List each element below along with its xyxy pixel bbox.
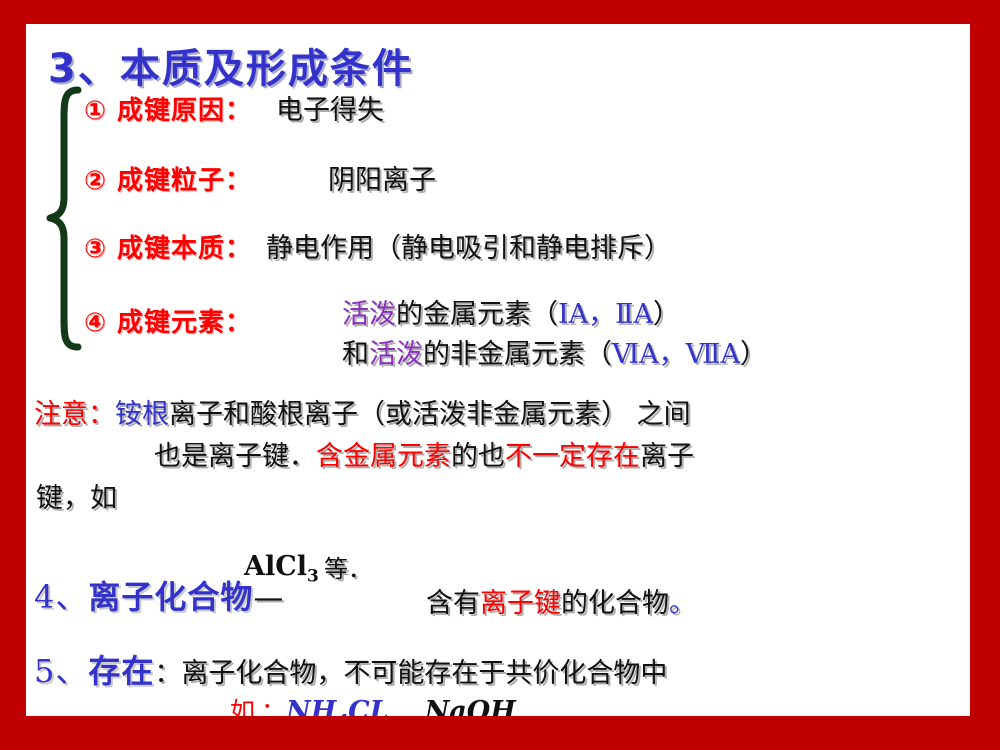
- item-1-label: 成键原因：: [117, 90, 252, 127]
- item-3-marker: ③: [84, 234, 107, 264]
- item-4-label: 成键元素：: [117, 302, 252, 339]
- formula-alcl3-subscript: 3: [307, 566, 319, 586]
- item-2-marker: ②: [84, 166, 107, 196]
- item-1-marker: ①: [84, 96, 107, 126]
- section-5-number: 5、: [34, 652, 88, 690]
- note-line-3: 键，如: [36, 476, 117, 515]
- section-4-def-keyword: 离子键: [480, 588, 561, 619]
- example-nh4cl-head: NH: [286, 696, 336, 716]
- item-4-marker: ④: [84, 308, 107, 338]
- section-4-number: 4、: [34, 578, 88, 616]
- section-5-title: 存在: [88, 652, 154, 690]
- item-4-line2-prefix: 和: [342, 339, 369, 370]
- note-line-2-prefix: 也是离子键．: [154, 441, 316, 472]
- list-item-2: ② 成键粒子： 阴阳离子: [84, 158, 436, 197]
- example-formula-nh4cl: NH4CL: [286, 696, 389, 716]
- item-2-value: 阴阳离子: [328, 158, 436, 197]
- note-metal-keyword: 含金属元素: [316, 441, 451, 472]
- item-4-line2-keyword: 活泼: [369, 339, 423, 370]
- section-5-body: 离子化合物，不可能存在于共价化合物中: [181, 658, 667, 689]
- note-attention-label: 注意: [34, 399, 88, 430]
- section-5-examples: 如：NH4CLNaOH: [230, 692, 516, 716]
- item-4-value-line-1: 活泼的金属元素（ⅠA，ⅡA）: [342, 292, 680, 331]
- item-3-label: 成键本质：: [117, 228, 252, 265]
- section-5-heading: 5、存在：离子化合物，不可能存在于共价化合物中: [34, 646, 667, 692]
- section-4-def-suffix: 的化合物: [561, 588, 669, 619]
- section-4-title: 离子化合物: [88, 578, 253, 616]
- item-4-line1-text: 的金属元素（: [396, 299, 558, 330]
- item-4-line2-close: ）: [740, 339, 767, 370]
- example-nh4cl-subscript: 4: [336, 711, 348, 716]
- example-formula-naoh: NaOH: [425, 696, 516, 716]
- note-line-2-mid: 的也: [451, 441, 505, 472]
- formula-suffix: 等．: [324, 549, 372, 584]
- item-2-label: 成键粒子：: [117, 160, 252, 197]
- note-line-2-tail: 离子: [640, 441, 694, 472]
- note-line-1: 注意：铵根离子和酸根离子（或活泼非金属元素） 之间: [34, 392, 691, 431]
- section-4-def-prefix: 含有: [426, 588, 480, 619]
- example-label: 如: [230, 697, 255, 716]
- list-item-4: ④ 成键元素：: [84, 302, 252, 339]
- section-4-definition: 含有离子键的化合物。: [426, 581, 696, 620]
- left-curly-brace: [44, 86, 84, 351]
- list-item-1: ① 成键原因： 电子得失: [84, 88, 384, 127]
- note-line-2: 也是离子键．含金属元素的也不一定存在离子: [154, 434, 694, 473]
- item-4-value-line-2: 和活泼的非金属元素（ⅥA，ⅦA）: [342, 332, 767, 371]
- section-5-colon: ：: [154, 658, 181, 689]
- item-1-value: 电子得失: [276, 88, 384, 127]
- item-4-line1-groups: ⅠA，ⅡA: [558, 299, 653, 330]
- slide-canvas: 3、本质及形成条件 ① 成键原因： 电子得失 ② 成键粒子： 阴阳离子 ③ 成键…: [26, 24, 970, 716]
- item-4-line1-close: ）: [653, 299, 680, 330]
- example-colon: ：: [261, 697, 286, 716]
- note-not-necessarily-keyword: 不一定存在: [505, 441, 640, 472]
- item-4-line2-text: 的非金属元素（: [423, 339, 612, 370]
- slide-frame: 3、本质及形成条件 ① 成键原因： 电子得失 ② 成键粒子： 阴阳离子 ③ 成键…: [0, 0, 1000, 750]
- note-ammonium-keyword: 铵根: [115, 399, 169, 430]
- page-title: 3、本质及形成条件: [48, 36, 414, 94]
- section-4-heading: 4、离子化合物—: [34, 572, 283, 618]
- note-line-1-rest: 离子和酸根离子（或活泼非金属元素） 之间: [169, 399, 691, 430]
- item-4-line2-groups: ⅥA，ⅦA: [612, 339, 740, 370]
- list-item-3: ③ 成键本质： 静电作用（静电吸引和静电排斥）: [84, 226, 671, 265]
- note-attention-colon: ：: [88, 399, 115, 430]
- item-3-value: 静电作用（静电吸引和静电排斥）: [266, 226, 671, 265]
- example-nh4cl-tail: CL: [348, 696, 388, 716]
- section-4-dash: —: [253, 581, 283, 616]
- section-4-def-period: 。: [669, 588, 696, 619]
- item-4-line1-keyword: 活泼: [342, 299, 396, 330]
